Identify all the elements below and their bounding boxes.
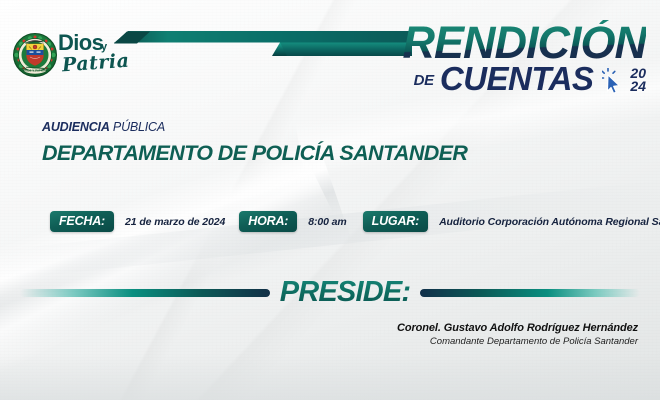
main-title-block: RENDICIÓN DE CUENTAS — [402, 20, 646, 95]
poster-header: DIOS Y PATRIA Dios y Patria — [0, 0, 660, 118]
preside-label: PRESIDE: — [280, 276, 411, 309]
fecha-value: 21 de marzo de 2024 — [114, 216, 239, 228]
bottom-gradient-fade — [0, 354, 660, 400]
officer-role: Comandante Departamento de Policía Santa… — [397, 336, 638, 347]
officer-name: Coronel. Gustavo Adolfo Rodríguez Hernán… — [397, 322, 638, 334]
title-cuentas: CUENTAS — [440, 62, 594, 95]
mouse-click-cursor-icon — [602, 68, 624, 94]
hora-value: 8:00 am — [297, 216, 362, 228]
hora-label-chip: HORA: — [239, 211, 297, 232]
year-2024: 20 24 — [630, 67, 646, 93]
fecha-label-chip: FECHA: — [50, 211, 114, 232]
motto-dios: Dios — [58, 32, 103, 54]
lugar-label-chip: LUGAR: — [363, 211, 428, 232]
preside-row: PRESIDE: — [0, 276, 660, 309]
svg-text:DIOS Y PATRIA: DIOS Y PATRIA — [24, 69, 47, 73]
lugar-value: Auditorio Corporación Autónoma Regional … — [428, 216, 660, 228]
audiencia-bold: AUDIENCIA — [42, 120, 110, 134]
event-info-row: FECHA: 21 de marzo de 2024 HORA: 8:00 am… — [50, 211, 660, 232]
preside-rule-left — [20, 289, 270, 297]
teal-banner-shape — [112, 25, 412, 78]
police-emblem-icon: DIOS Y PATRIA — [12, 32, 58, 78]
presiding-officer-signature: Coronel. Gustavo Adolfo Rodríguez Hernán… — [397, 322, 638, 347]
department-title: DEPARTAMENTO DE POLICÍA SANTANDER — [42, 141, 467, 166]
preside-rule-right — [420, 289, 640, 297]
year-bottom: 24 — [630, 80, 646, 93]
rendicion-de-cuentas-poster: DIOS Y PATRIA Dios y Patria — [0, 0, 660, 400]
title-de: DE — [414, 72, 434, 95]
audiencia-light: PÚBLICA — [110, 120, 165, 134]
audiencia-publica-label: AUDIENCIA PÚBLICA — [42, 120, 165, 134]
